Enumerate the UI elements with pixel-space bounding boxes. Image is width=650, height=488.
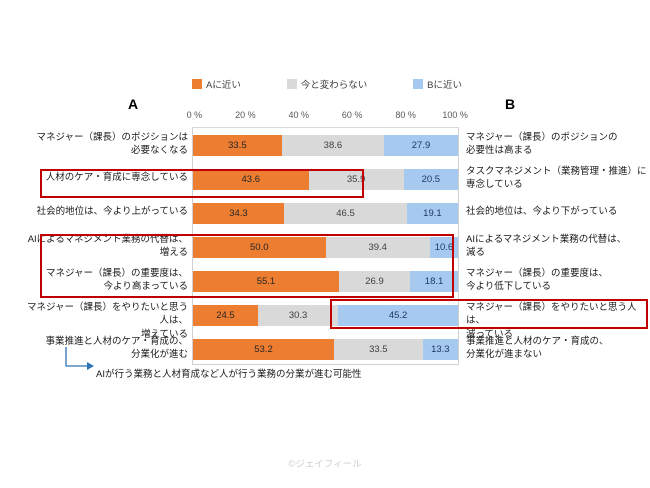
category-label-line2: 増える [160, 247, 188, 258]
bar-segment-a: 50.0 [193, 237, 326, 258]
annotation-arrow-icon [62, 346, 96, 374]
bar-value-label: 10.6 [435, 242, 454, 253]
pole-header-b: B [505, 96, 515, 112]
chart-legend: Aに近い 今と変わらない Bに近い [192, 76, 462, 92]
category-label-line2: 必要なくなる [131, 145, 188, 156]
bar-segment-a: 34.3 [193, 203, 284, 224]
left-category-label: 事業推進と人材のケア・育成の、分業化が進む [22, 335, 188, 362]
stacked-bar: 55.126.918.1 [193, 271, 458, 292]
left-category-label: AIによるマネジメント業務の代替は、増える [22, 233, 188, 260]
bar-segment-a: 24.5 [193, 305, 258, 326]
copyright-footer: ©ジェイフィール [0, 456, 650, 470]
plot-area: 33.538.627.943.635.920.534.346.519.150.0… [192, 127, 459, 365]
bar-value-label: 27.9 [412, 140, 431, 151]
bar-value-label: 39.4 [368, 242, 387, 253]
x-axis-tick: 80 % [395, 110, 416, 120]
bar-row: 53.233.513.3 [193, 332, 458, 366]
bar-row: 33.538.627.9 [193, 128, 458, 162]
x-axis: 0 %20 %40 %60 %80 %100 % [192, 110, 459, 124]
bar-segment-b: 18.1 [410, 271, 458, 292]
left-category-label: 社会的地位は、今より上がっている [22, 205, 188, 219]
bar-segment-b: 45.2 [338, 305, 458, 326]
legend-item-b: Bに近い [413, 77, 462, 91]
category-label-line2: 今より高まっている [104, 281, 188, 292]
right-category-column: マネジャー（課長）のポジションの必要性は高まるタスクマネジメント（業務管理・推進… [466, 127, 648, 365]
legend-swatch-no-change [287, 79, 297, 89]
legend-label-b: Bに近い [427, 77, 462, 91]
bar-value-label: 38.6 [324, 140, 343, 151]
category-label-line2: 必要性は高まる [466, 145, 533, 156]
bar-segment-b: 13.3 [423, 339, 458, 360]
category-label-line2: 専念している [466, 179, 523, 190]
right-category-label: AIによるマネジメント業務の代替は、減る [466, 233, 648, 260]
stacked-bar: 50.039.410.6 [193, 237, 458, 258]
bar-segment-no-change: 33.5 [334, 339, 423, 360]
category-label-line2: 今より低下している [466, 281, 551, 292]
left-category-column: マネジャー（課長）のポジションは必要なくなる人材のケア・育成に専念している社会的… [22, 127, 188, 365]
bar-segment-b: 19.1 [407, 203, 458, 224]
bar-row: 43.635.920.5 [193, 162, 458, 196]
bar-value-label: 53.2 [254, 344, 273, 355]
bar-value-label: 26.9 [365, 276, 384, 287]
bar-value-label: 13.3 [431, 344, 450, 355]
bar-row: 24.530.345.2 [193, 298, 458, 332]
bar-segment-no-change: 46.5 [284, 203, 407, 224]
left-category-label: マネジャー（課長）のポジションは必要なくなる [22, 131, 188, 158]
legend-label-a: Aに近い [206, 77, 241, 91]
bar-value-label: 18.1 [425, 276, 444, 287]
bar-segment-b: 10.6 [430, 237, 458, 258]
bar-segment-no-change: 35.9 [309, 169, 404, 190]
annotation-text: AIが行う業務と人材育成など人が行う業務の分業が進む可能性 [96, 366, 361, 380]
pole-header-a: A [128, 96, 138, 112]
bar-segment-no-change: 26.9 [339, 271, 410, 292]
stacked-bar: 43.635.920.5 [193, 169, 458, 190]
bar-value-label: 24.5 [216, 310, 235, 321]
bar-value-label: 19.1 [423, 208, 442, 219]
x-axis-tick: 40 % [289, 110, 310, 120]
bar-segment-no-change: 38.6 [282, 135, 384, 156]
chart-canvas: Aに近い 今と変わらない Bに近い A B 0 %20 %40 %60 %80 … [0, 0, 650, 488]
bar-segment-a: 55.1 [193, 271, 339, 292]
bar-value-label: 45.2 [389, 310, 408, 321]
bar-value-label: 33.5 [369, 344, 388, 355]
stacked-bar: 53.233.513.3 [193, 339, 458, 360]
category-label-line2: 減る [466, 247, 485, 258]
bar-value-label: 50.0 [250, 242, 269, 253]
bar-segment-a: 43.6 [193, 169, 309, 190]
left-category-label: 人材のケア・育成に専念している [22, 171, 188, 185]
bar-value-label: 20.5 [422, 174, 441, 185]
bar-segment-b: 20.5 [404, 169, 458, 190]
bar-value-label: 35.9 [347, 174, 366, 185]
bar-value-label: 46.5 [336, 208, 355, 219]
right-category-label: マネジャー（課長）の重要度は、今より低下している [466, 267, 648, 294]
legend-swatch-a [192, 79, 202, 89]
bar-segment-a: 53.2 [193, 339, 334, 360]
right-category-label: 社会的地位は、今より下がっている [466, 205, 648, 219]
stacked-bar: 33.538.627.9 [193, 135, 458, 156]
legend-swatch-b [413, 79, 423, 89]
category-label-line2: 分業化が進む [131, 349, 188, 360]
bar-row: 55.126.918.1 [193, 264, 458, 298]
bar-rows: 33.538.627.943.635.920.534.346.519.150.0… [193, 128, 458, 364]
left-category-label: マネジャー（課長）の重要度は、今より高まっている [22, 267, 188, 294]
bar-value-label: 30.3 [289, 310, 308, 321]
bar-segment-b: 27.9 [384, 135, 458, 156]
right-category-label: マネジャー（課長）のポジションの必要性は高まる [466, 131, 648, 158]
stacked-bar: 24.530.345.2 [193, 305, 458, 326]
x-axis-tick: 100 % [442, 110, 468, 120]
x-axis-tick: 60 % [342, 110, 363, 120]
legend-label-no-change: 今と変わらない [301, 77, 368, 91]
bar-value-label: 33.5 [228, 140, 247, 151]
bar-value-label: 43.6 [242, 174, 261, 185]
stacked-bar: 34.346.519.1 [193, 203, 458, 224]
bar-segment-a: 33.5 [193, 135, 282, 156]
right-category-label: タスクマネジメント（業務管理・推進）に専念している [466, 165, 648, 192]
category-label-line2: 分業化が進まない [466, 349, 542, 360]
bar-value-label: 55.1 [257, 276, 276, 287]
bar-segment-no-change: 39.4 [326, 237, 430, 258]
legend-item-a: Aに近い [192, 77, 241, 91]
x-axis-tick: 0 % [187, 110, 203, 120]
bar-segment-no-change: 30.3 [258, 305, 338, 326]
right-category-label: 事業推進と人材のケア・育成の、分業化が進まない [466, 335, 648, 362]
bar-row: 34.346.519.1 [193, 196, 458, 230]
legend-item-no-change: 今と変わらない [287, 77, 368, 91]
bar-row: 50.039.410.6 [193, 230, 458, 264]
bar-value-label: 34.3 [229, 208, 248, 219]
x-axis-tick: 20 % [235, 110, 256, 120]
